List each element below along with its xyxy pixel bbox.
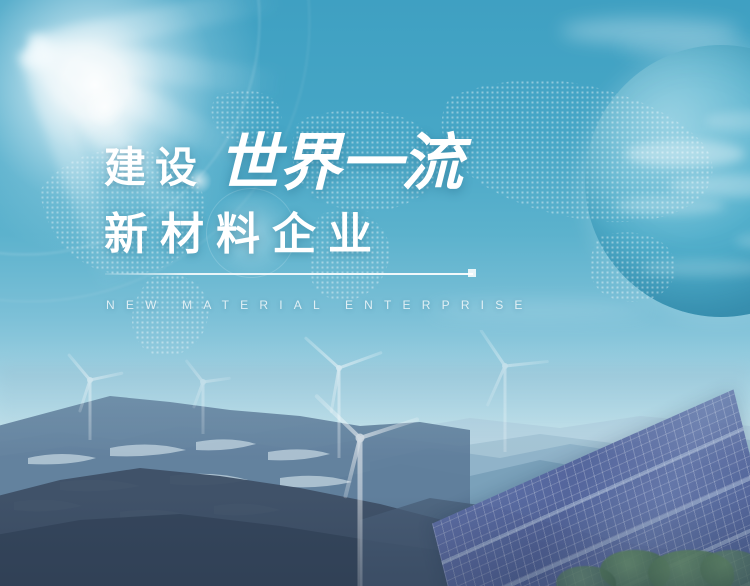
headline-emphasis: 世界一流	[218, 133, 462, 195]
vegetation	[700, 550, 750, 586]
divider-line	[105, 273, 473, 275]
headline-block: 建设 世界一流 新材料企业 NEW MATERIAL ENTERPRISE	[0, 0, 750, 400]
headline-prefix: 建设	[104, 147, 206, 195]
headline-line-1: 建设 世界一流	[104, 133, 462, 195]
hero-banner: 建设 世界一流 新材料企业 NEW MATERIAL ENTERPRISE	[0, 0, 750, 586]
wind-turbine-icon	[330, 438, 390, 586]
headline-line-2: 新材料企业	[104, 213, 384, 257]
divider-end-marker	[468, 269, 476, 277]
subtitle-english: NEW MATERIAL ENTERPRISE	[106, 298, 534, 312]
